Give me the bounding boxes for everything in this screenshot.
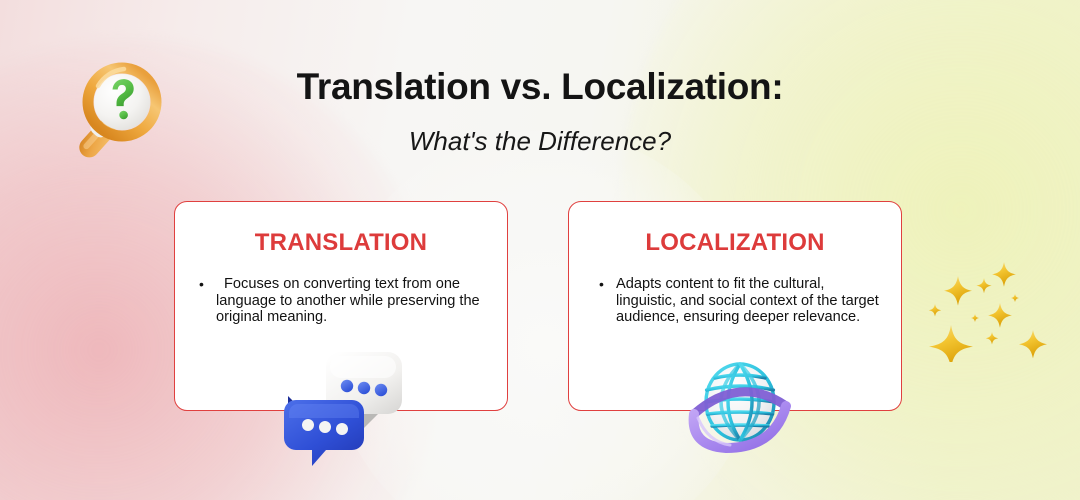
card-bullet: • Focuses on converting text from one la… [199,276,489,326]
card-title: LOCALIZATION [569,229,901,257]
bullet-marker: • [599,276,616,293]
page-subtitle: What's the Difference? [0,126,1080,157]
card-bullet: • Adapts content to fit the cultural, li… [599,276,885,326]
bullet-text: Focuses on converting text from one lang… [216,276,489,326]
bullet-marker: • [199,276,216,293]
card-title: TRANSLATION [175,229,507,257]
page-title: Translation vs. Localization: [0,66,1080,108]
slide-canvas: TRANSLATION • Focuses on converting text… [0,0,1080,500]
bullet-text: Adapts content to fit the cultural, ling… [616,276,885,326]
chat-bubbles-icon [282,344,414,466]
sparkles-icon [918,252,1058,362]
globe-orbit-icon [682,352,798,456]
